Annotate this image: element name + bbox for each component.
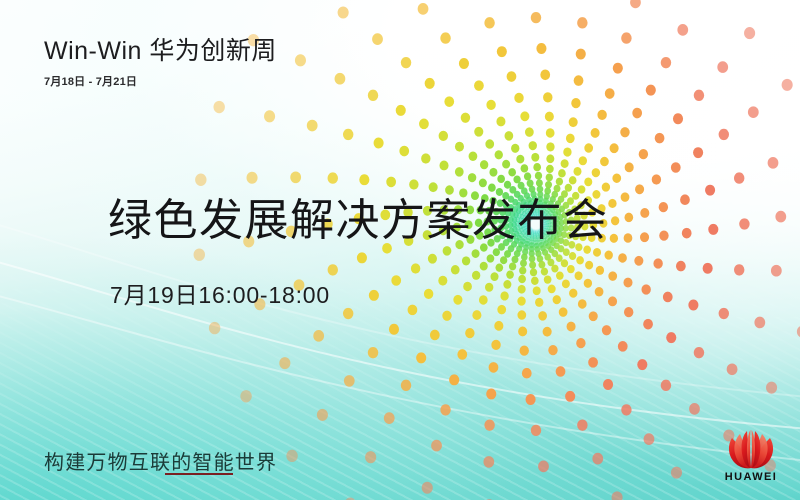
event-dates: 7月18日 - 7月21日 [44,73,277,89]
slogan-block: 构建万物互联的智能世界 [44,446,277,475]
huawei-logo: HUAWEI [716,430,786,484]
huawei-flower-icon [716,430,786,470]
page-title: 绿色发展解决方案发布会 [108,184,609,248]
slogan-underline [165,473,233,475]
event-header: Win-Win 华为创新周 7月18日 - 7月21日 [44,38,277,89]
brand-slogan: 构建万物互联的智能世界 [44,446,277,475]
event-name: Win-Win 华为创新周 [44,38,277,66]
session-time: 7月19日16:00-18:00 [110,276,330,310]
huawei-wordmark: HUAWEI [716,471,786,483]
poster-canvas: Win-Win 华为创新周 7月18日 - 7月21日 绿色发展解决方案发布会 … [0,0,800,500]
